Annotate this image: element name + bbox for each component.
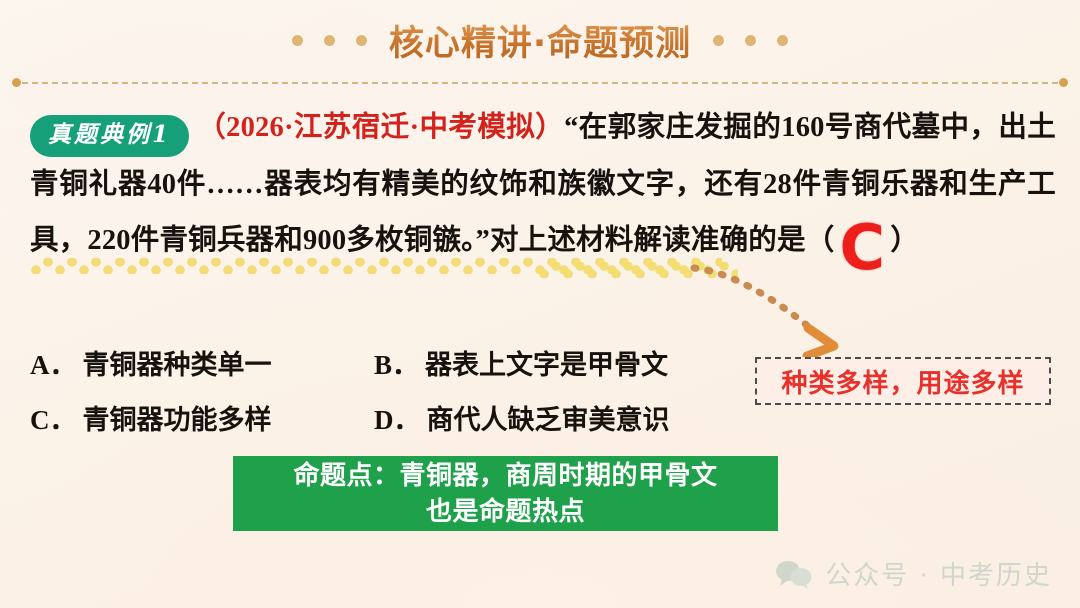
wavy-underline-highlight-continued bbox=[538, 262, 738, 278]
divider bbox=[12, 78, 1068, 88]
option-a-key: A． bbox=[30, 350, 77, 380]
option-c-key: C． bbox=[30, 405, 77, 435]
option-d-key: D． bbox=[374, 405, 421, 435]
decor-dot-icon bbox=[292, 35, 303, 46]
example-badge: 真题典例1 bbox=[30, 115, 189, 157]
wechat-icon bbox=[775, 559, 813, 589]
option-b-key: B． bbox=[374, 350, 419, 380]
slide-title-row: 核心精讲·命题预测 bbox=[0, 14, 1080, 66]
divider-cap-right-icon bbox=[1059, 78, 1068, 87]
options-list: A．青铜器种类单一B．器表上文字是甲骨文 C．青铜器功能多样D．商代人缺乏审美意… bbox=[30, 338, 750, 448]
decor-dot-icon bbox=[745, 35, 756, 46]
option-d[interactable]: D．商代人缺乏审美意识 bbox=[374, 393, 670, 448]
keypoint-box: 命题点：青铜器，商周时期的甲骨文 也是命题热点 bbox=[233, 456, 778, 531]
answer-letter: C bbox=[840, 217, 886, 279]
title-dots-right bbox=[713, 35, 788, 46]
option-d-label: 商代人缺乏审美意识 bbox=[427, 405, 670, 435]
divider-cap-left-icon bbox=[12, 78, 21, 87]
annotation-text: 种类多样，用途多样 bbox=[781, 363, 1024, 400]
divider-line bbox=[22, 82, 1058, 84]
option-a-label: 青铜器种类单一 bbox=[83, 350, 272, 380]
keypoint-line-1: 命题点：青铜器，商周时期的甲骨文 bbox=[293, 458, 717, 494]
question-source: （2026·江苏宿迁·中考模拟） bbox=[197, 112, 564, 143]
option-b-label: 器表上文字是甲骨文 bbox=[425, 350, 668, 380]
annotation-callout: 种类多样，用途多样 bbox=[755, 357, 1051, 405]
option-b[interactable]: B．器表上文字是甲骨文 bbox=[374, 338, 668, 393]
decor-dot-icon bbox=[713, 35, 724, 46]
question-stem-close-paren: ） bbox=[890, 225, 919, 256]
question-stem-line-1: “在郭家庄发掘的160号商代 bbox=[564, 112, 911, 143]
watermark-text: 公众号 · 中考历史 bbox=[825, 555, 1052, 592]
watermark: 公众号 · 中考历史 bbox=[775, 555, 1052, 592]
decor-dot-icon bbox=[324, 35, 335, 46]
question-stem-line-4: 读准确的是（ bbox=[662, 225, 834, 256]
slide-canvas: 核心精讲·命题预测 真题典例1（2026·江苏宿迁·中考模拟）“在郭家庄发掘的1… bbox=[0, 0, 1080, 608]
keypoint-line-2: 也是命题热点 bbox=[426, 494, 585, 530]
options-row-cd: C．青铜器功能多样D．商代人缺乏审美意识 bbox=[30, 393, 750, 448]
options-row-ab: A．青铜器种类单一B．器表上文字是甲骨文 bbox=[30, 338, 750, 393]
decor-dot-icon bbox=[777, 35, 788, 46]
title-dots-left bbox=[292, 35, 367, 46]
question-stem: 真题典例1（2026·江苏宿迁·中考模拟）“在郭家庄发掘的160号商代墓中，出土… bbox=[30, 100, 1056, 269]
decor-dot-icon bbox=[356, 35, 367, 46]
option-c-label: 青铜器功能多样 bbox=[83, 405, 272, 435]
page-title: 核心精讲·命题预测 bbox=[381, 15, 699, 66]
option-a[interactable]: A．青铜器种类单一 bbox=[30, 338, 374, 393]
option-c[interactable]: C．青铜器功能多样 bbox=[30, 393, 374, 448]
